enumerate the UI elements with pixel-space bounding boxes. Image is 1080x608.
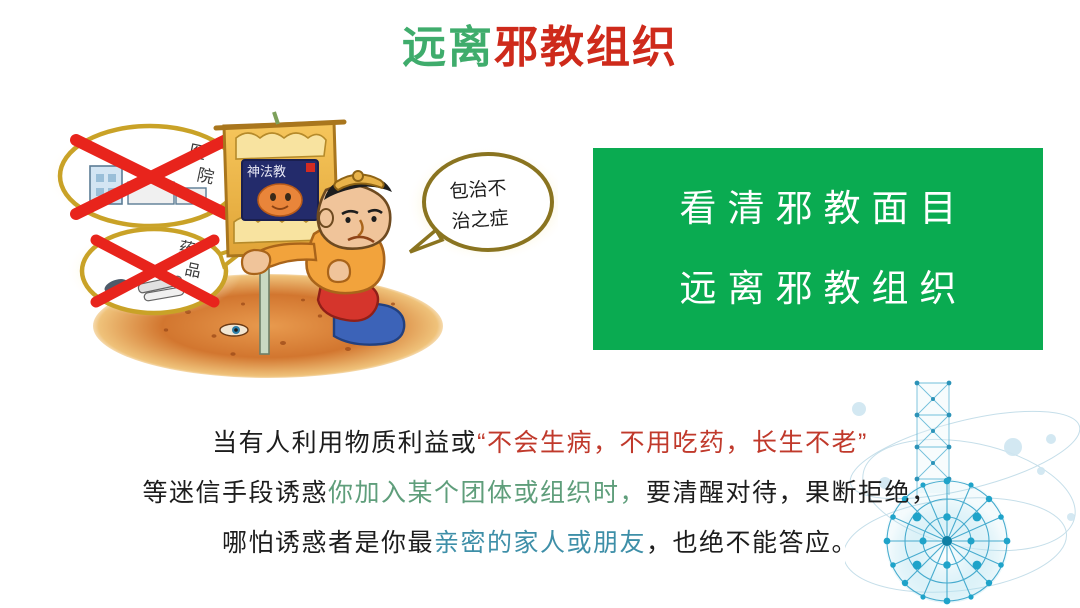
paragraph-line-1-a: 当有人利用物质利益或	[212, 429, 477, 457]
bubble-cure-line1: 包治不	[449, 177, 507, 203]
paragraph-line-3: 哪怕诱惑者是你最亲密的家人或朋友，也绝不能答应。	[0, 518, 1080, 568]
paragraph-line-3-c: ，也绝不能答应。	[646, 529, 858, 557]
paragraph-line-2: 等迷信手段诱惑你加入某个团体或组织时，要清醒对待，果断拒绝，	[0, 468, 1080, 518]
paragraph-line-2-a: 等迷信手段诱惑	[142, 479, 328, 507]
speech-bubble-cure-claim: 包治不 治之症	[406, 146, 558, 262]
title-red-part: 邪教组织	[494, 23, 678, 72]
poster-canvas: 远离邪教组织	[0, 0, 1080, 608]
banner-line-2: 远离邪教组织	[669, 249, 968, 329]
paragraph-line-1: 当有人利用物质利益或“不会生病，不用吃药，长生不老”	[0, 418, 1080, 468]
paragraph-line-1-quote: “不会生病，不用吃药，长生不老”	[477, 429, 868, 457]
sign-text: 神法教	[247, 164, 286, 180]
advisory-paragraph: 当有人利用物质利益或“不会生病，不用吃药，长生不老” 等迷信手段诱惑你加入某个团…	[0, 418, 1080, 568]
paragraph-line-2-c: 要清醒对待，果断拒绝，	[646, 479, 938, 507]
anti-cult-cartoon-illustration: 医 院 药 品	[38, 104, 558, 379]
bubble-cure-line2: 治之症	[451, 207, 509, 233]
banner-line-1: 看清邪教面目	[669, 169, 968, 249]
buried-eye-detail	[220, 324, 248, 336]
page-title: 远离邪教组织	[0, 22, 1080, 74]
title-green-part: 远离	[402, 23, 494, 72]
paragraph-line-2-b: 你加入某个团体或组织时，	[328, 479, 646, 507]
paragraph-line-3-a: 哪怕诱惑者是你最	[222, 529, 434, 557]
green-slogan-banner: 看清邪教面目 远离邪教组织	[593, 148, 1043, 350]
paragraph-line-3-b: 亲密的家人或朋友	[434, 529, 646, 557]
